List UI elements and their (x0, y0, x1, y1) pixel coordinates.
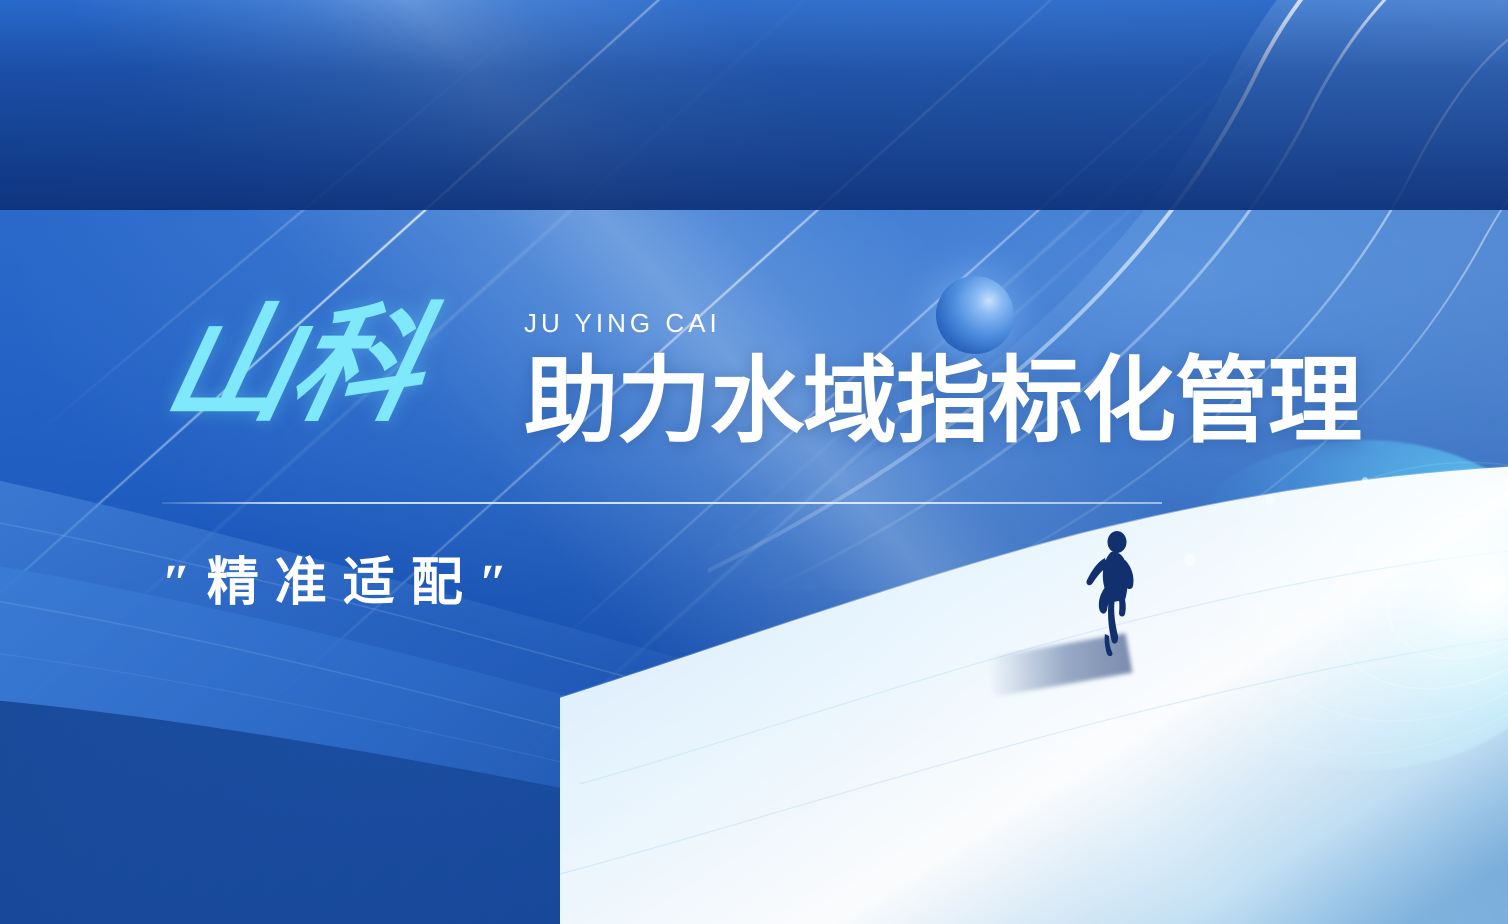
tagline-quote-open: ″ (162, 555, 207, 612)
brand-logo-text: 山科 (154, 302, 433, 430)
headline-text: 助力水域指标化管理 (524, 352, 1361, 451)
banner-content: 山科 JU YING CAI 助力水域指标化管理 ″精准适配″ (0, 0, 1508, 924)
tagline-text: 精准适配 (207, 554, 479, 612)
promo-banner: 山科 JU YING CAI 助力水域指标化管理 ″精准适配″ (0, 0, 1508, 924)
brand-pinyin-text: JU YING CAI (524, 308, 721, 339)
divider-line (162, 502, 1162, 504)
tagline-quote-close: ″ (479, 555, 524, 612)
tagline: ″精准适配″ (162, 540, 523, 615)
